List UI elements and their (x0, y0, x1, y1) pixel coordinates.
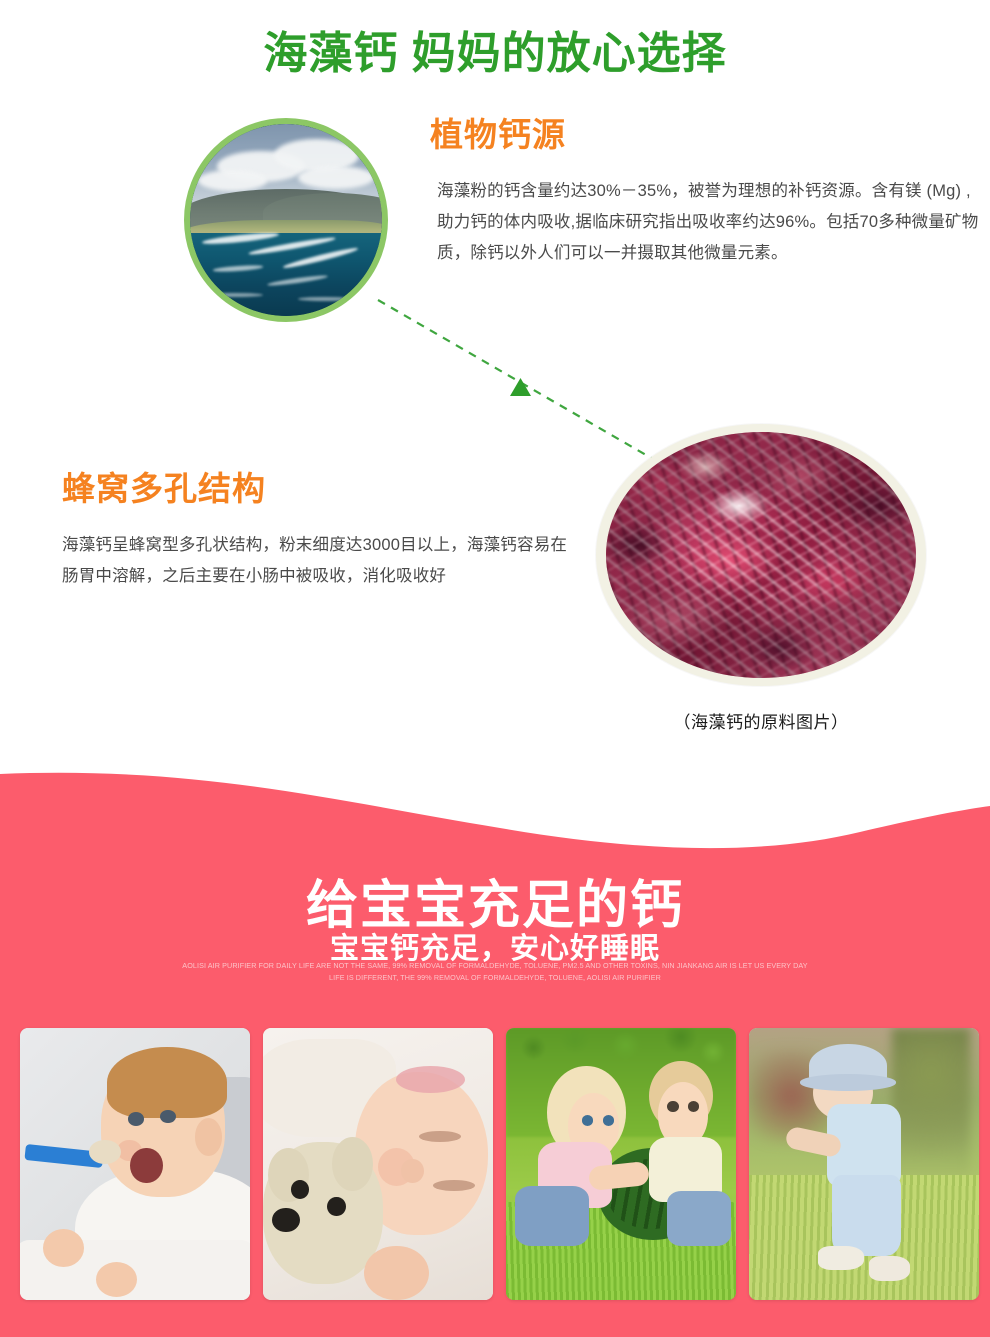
seaweed-calcium-photo (596, 424, 926, 686)
ingredient-section: 海藻钙 妈妈的放心选择 植物钙源 (0, 0, 990, 790)
product-detail-page: 海藻钙 妈妈的放心选择 植物钙源 (0, 0, 990, 1337)
seaweed-calcium-photo-inner (606, 432, 916, 678)
teddy-nose (272, 1208, 300, 1232)
baby-sleeping-photo (263, 1028, 493, 1300)
spoon-food (89, 1140, 121, 1164)
photo-strip (0, 1028, 990, 1300)
honeycomb-heading: 蜂窝多孔结构 (62, 462, 532, 510)
kids-watermelon-photo (506, 1028, 736, 1300)
teddy-eye (327, 1197, 345, 1216)
honeycomb-body: 海藻钙呈蜂窝型多孔状结构，粉末细度达3000目以上，海藻钙容易在肠胃中溶解，之后… (62, 530, 582, 592)
boy-eye (667, 1101, 679, 1112)
baby-hair (107, 1047, 227, 1118)
toddler-shoe (869, 1256, 910, 1280)
seaweed-calcium-caption: （海藻钙的原料图片） (596, 708, 926, 733)
hat-brim (800, 1074, 897, 1090)
toddler-shoe (818, 1246, 864, 1270)
pink-fineprint: AOLISI AIR PURIFIER FOR DAILY LIFE ARE N… (175, 960, 815, 984)
closed-eye (433, 1180, 474, 1191)
baby-feeding-photo (20, 1028, 250, 1300)
baby-mouth (130, 1148, 162, 1183)
triangle-marker (510, 378, 531, 396)
baby-nose (401, 1159, 424, 1183)
baby-ear (195, 1118, 223, 1156)
girl-eye (603, 1115, 615, 1126)
surf-foam (298, 297, 352, 301)
toddler-walking-photo (749, 1028, 979, 1300)
plant-source-heading: 植物钙源 (430, 108, 850, 156)
sea-coast-photo-inner (190, 124, 382, 316)
boy-jeans (667, 1191, 731, 1245)
toddler-pants (832, 1175, 901, 1257)
page-title: 海藻钙 妈妈的放心选择 (0, 28, 990, 81)
sea-coast-photo (184, 118, 388, 322)
plant-source-body: 海藻粉的钙含量约达30%－35%，被誉为理想的补钙资源。含有镁 (Mg) ,助力… (437, 176, 982, 269)
cloud-shape (198, 170, 267, 191)
baby-eye (128, 1112, 144, 1126)
girl-jeans (515, 1186, 589, 1246)
tree-blur (892, 1028, 970, 1186)
baby-hand (364, 1246, 428, 1300)
